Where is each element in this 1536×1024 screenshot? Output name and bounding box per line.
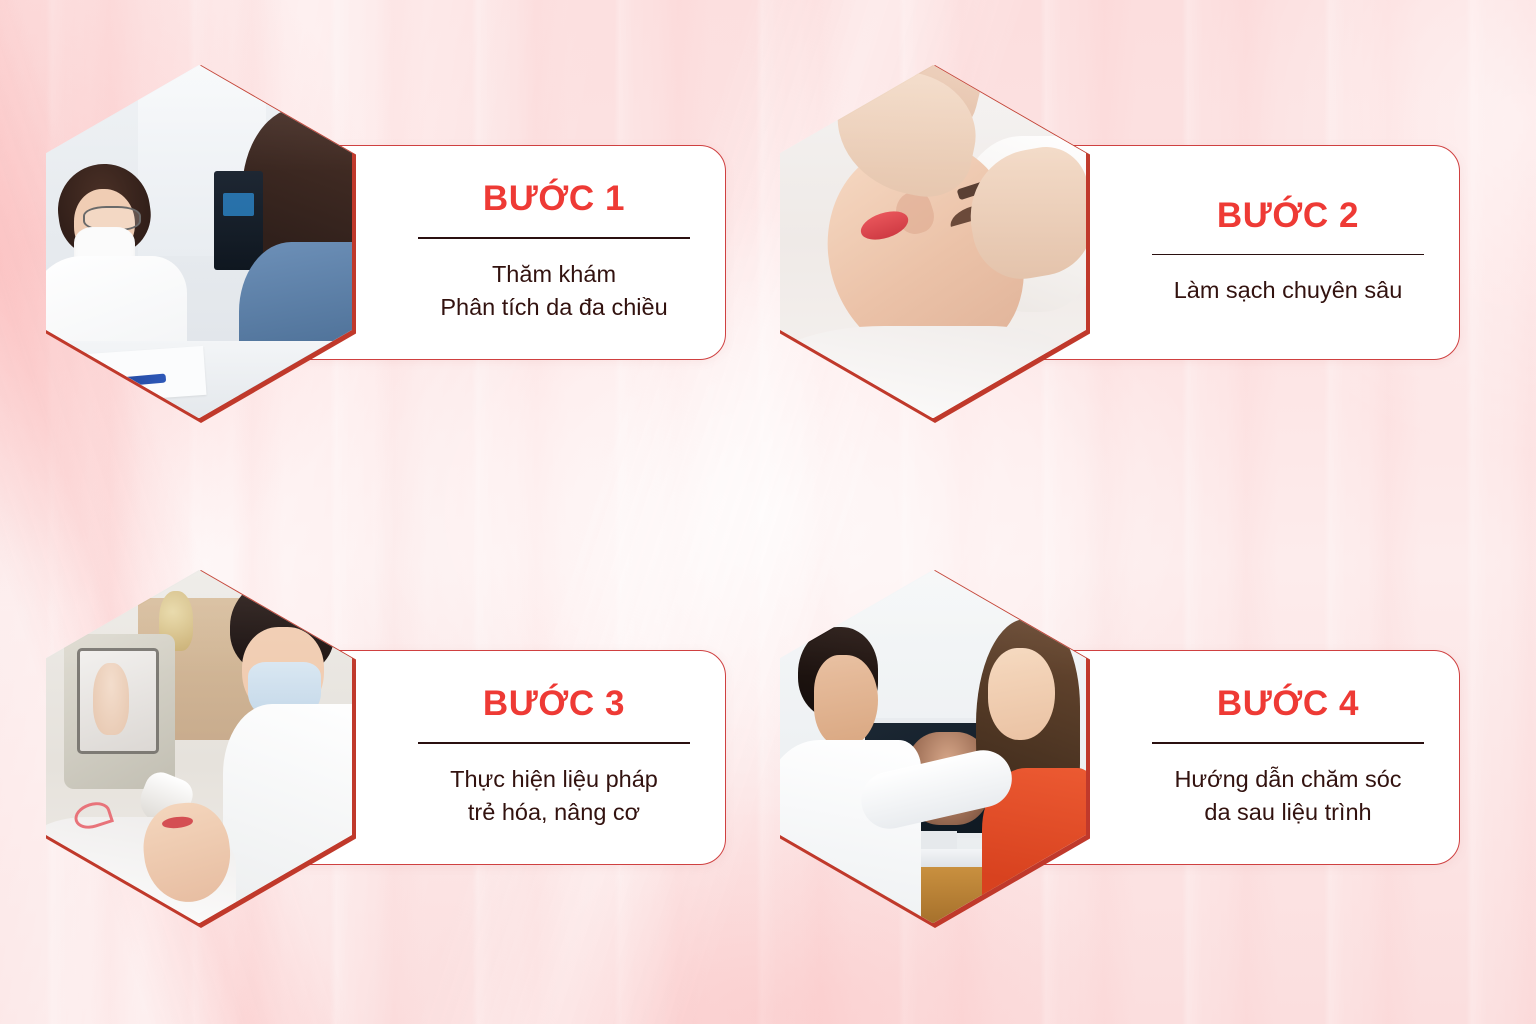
step-1-title: BƯỚC 1 — [483, 181, 625, 216]
step-card-2[interactable]: BƯỚC 2 Làm sạch chuyên sâu — [780, 65, 1480, 425]
step-2-description: Làm sạch chuyên sâu — [1174, 274, 1403, 307]
steps-grid: BƯỚC 1 Thăm khám Phân tích da đa chiều — [0, 0, 1536, 1024]
step-card-3[interactable]: BƯỚC 3 Thực hiện liệu pháp trẻ hóa, nâng… — [46, 570, 746, 930]
step-3-photo — [46, 570, 352, 923]
step-2-divider — [1152, 254, 1424, 256]
step-2-title: BƯỚC 2 — [1217, 198, 1359, 233]
step-3-divider — [418, 742, 690, 744]
step-card-4[interactable]: BƯỚC 4 Hướng dẫn chăm sóc da sau liệu tr… — [780, 570, 1480, 930]
step-3-description: Thực hiện liệu pháp trẻ hóa, nâng cơ — [450, 763, 658, 829]
step-card-1[interactable]: BƯỚC 1 Thăm khám Phân tích da đa chiều — [46, 65, 746, 425]
step-1-divider — [418, 237, 690, 239]
step-4-photo — [780, 570, 1086, 923]
step-4-description: Hướng dẫn chăm sóc da sau liệu trình — [1174, 763, 1401, 829]
step-4-hexagon-image — [780, 570, 1090, 928]
step-2-photo — [780, 65, 1086, 418]
step-3-title: BƯỚC 3 — [483, 686, 625, 721]
step-1-description: Thăm khám Phân tích da đa chiều — [440, 258, 667, 324]
step-3-hexagon-image — [46, 570, 356, 928]
step-1-hexagon-image — [46, 65, 356, 423]
step-4-divider — [1152, 742, 1424, 744]
step-1-photo — [46, 65, 352, 418]
step-2-hexagon-image — [780, 65, 1090, 423]
step-4-title: BƯỚC 4 — [1217, 686, 1359, 721]
